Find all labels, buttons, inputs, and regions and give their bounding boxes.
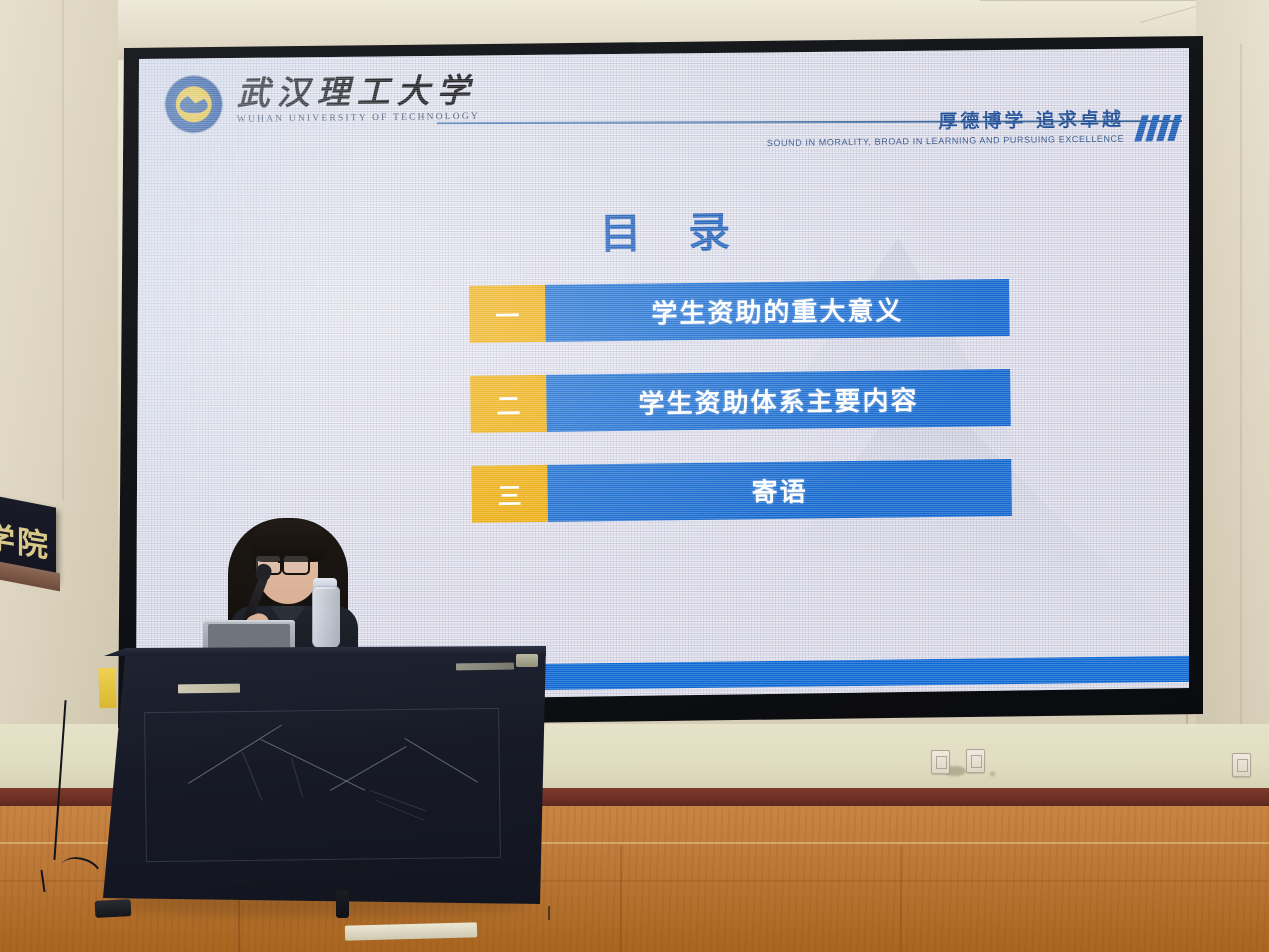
wuhan-university-of-technology-seal-icon	[164, 75, 223, 134]
toc-item-label: 学生资助体系主要内容	[546, 369, 1011, 432]
wall-outlet-icon	[966, 749, 985, 773]
toc-item[interactable]: 三 寄语	[471, 459, 1012, 523]
university-name-block: 武汉理工大学 WUHAN UNIVERSITY OF TECHNOLOGY	[236, 72, 480, 125]
toc-item-label: 学生资助的重大意义	[545, 279, 1010, 342]
label-sticker-icon	[456, 663, 514, 671]
label-sticker-icon	[178, 684, 240, 694]
toc-item-number: 三	[471, 465, 548, 523]
department-sign-label: 学院	[0, 511, 54, 567]
cable-icon	[548, 906, 550, 920]
eyeglasses-icon	[282, 554, 310, 575]
university-motto: 厚德博学 追求卓越 SOUND IN MORALITY, BROAD IN LE…	[766, 111, 1124, 148]
wall-panel-seam	[62, 0, 64, 500]
wall-panel-seam	[1240, 44, 1242, 734]
toc-item-label: 寄语	[547, 459, 1012, 522]
floor-seam	[900, 846, 902, 952]
laptop-icon[interactable]	[203, 620, 295, 652]
eyeglasses-bridge	[278, 561, 284, 563]
slide-title: 目 录	[138, 193, 1189, 267]
small-plate-icon	[516, 654, 538, 667]
microphone-base	[336, 890, 349, 918]
toc-item-number: 二	[470, 375, 547, 433]
toc-item[interactable]: 二 学生资助体系主要内容	[470, 369, 1011, 433]
wall-blemish	[990, 772, 995, 776]
university-branding: 武汉理工大学 WUHAN UNIVERSITY OF TECHNOLOGY	[164, 72, 480, 134]
motto-en: SOUND IN MORALITY, BROAD IN LEARNING AND…	[767, 134, 1125, 148]
yellow-tape-marker	[98, 668, 116, 709]
wall-right-panel	[1196, 0, 1269, 800]
power-adapter-icon	[95, 899, 132, 918]
wall-outlet-icon	[931, 750, 950, 774]
podium-panel-outline	[144, 708, 501, 862]
toc-item-number: 一	[469, 285, 546, 343]
motto-cn: 厚德博学 追求卓越	[766, 111, 1124, 134]
floor-seam	[620, 846, 622, 952]
scene-stage: 学院 武汉理工大学 WUHAN UNIVERSITY OF TECHNOLOGY	[0, 0, 1269, 952]
four-slanted-bars-icon	[1138, 115, 1178, 142]
water-bottle-icon	[312, 586, 340, 648]
university-name-cn: 武汉理工大学	[236, 74, 479, 110]
wall-outlet-icon	[1232, 753, 1251, 777]
toc-item[interactable]: 一 学生资助的重大意义	[469, 279, 1010, 343]
table-of-contents: 一 学生资助的重大意义 二 学生资助体系主要内容 三 寄语	[469, 279, 1012, 556]
